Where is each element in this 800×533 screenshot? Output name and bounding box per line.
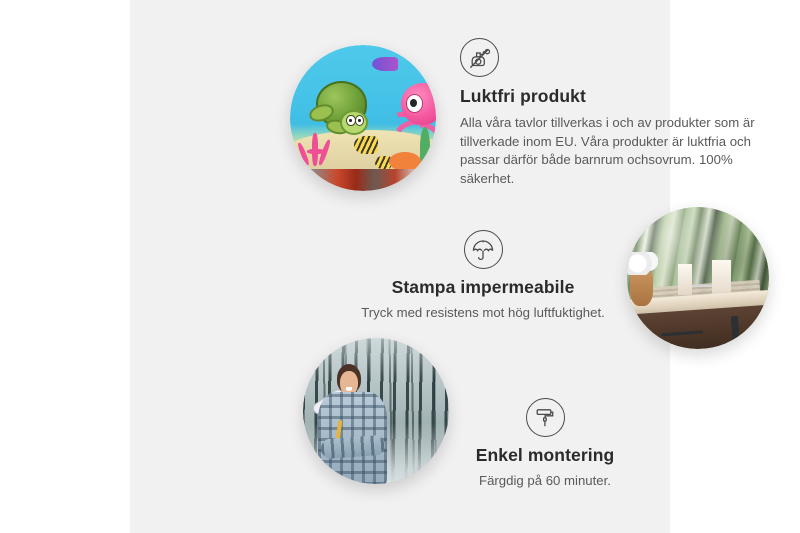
promo-infographic: Luktfri produkt Alla våra tavlor tillver… xyxy=(0,0,800,533)
sea-weed xyxy=(420,127,430,168)
yellow-fish xyxy=(375,156,391,169)
feature-block-waterproof: Stampa impermeabile Tryck med resistens … xyxy=(348,230,618,323)
turtle-head xyxy=(340,110,368,135)
feature-image-odorless xyxy=(290,45,436,191)
yellow-fish xyxy=(354,136,377,155)
no-perfume-spray-icon xyxy=(460,38,499,77)
turtle-eye xyxy=(355,115,364,126)
starfish xyxy=(389,152,421,171)
smile xyxy=(346,387,353,391)
feature-title: Enkel montering xyxy=(430,445,660,467)
woman-painter xyxy=(315,361,397,484)
toiletry-bottle xyxy=(678,264,692,295)
white-flowers xyxy=(627,252,658,275)
feature-image-waterproof xyxy=(627,207,769,349)
content-panel: Luktfri produkt Alla våra tavlor tillver… xyxy=(130,0,670,533)
feature-body: Tryck med resistens mot hög luftfuktighe… xyxy=(348,304,618,323)
room-photo-strip xyxy=(290,169,436,191)
feature-title: Stampa impermeabile xyxy=(348,277,618,299)
feature-image-mounting xyxy=(303,338,449,484)
pink-coral xyxy=(299,119,343,166)
feature-block-mounting: Enkel montering Färgdig på 60 minuter. xyxy=(430,398,660,491)
umbrella-icon xyxy=(464,230,503,269)
feature-block-odorless: Luktfri produkt Alla våra tavlor tillver… xyxy=(460,38,760,189)
feature-title: Luktfri produkt xyxy=(460,86,760,108)
purple-fish xyxy=(372,57,398,72)
octopus-eye xyxy=(406,94,423,113)
feature-body: Färgdig på 60 minuter. xyxy=(430,472,660,491)
paint-roller-icon xyxy=(526,398,565,437)
feature-body: Alla våra tavlor tillverkas i och av pro… xyxy=(460,114,760,189)
